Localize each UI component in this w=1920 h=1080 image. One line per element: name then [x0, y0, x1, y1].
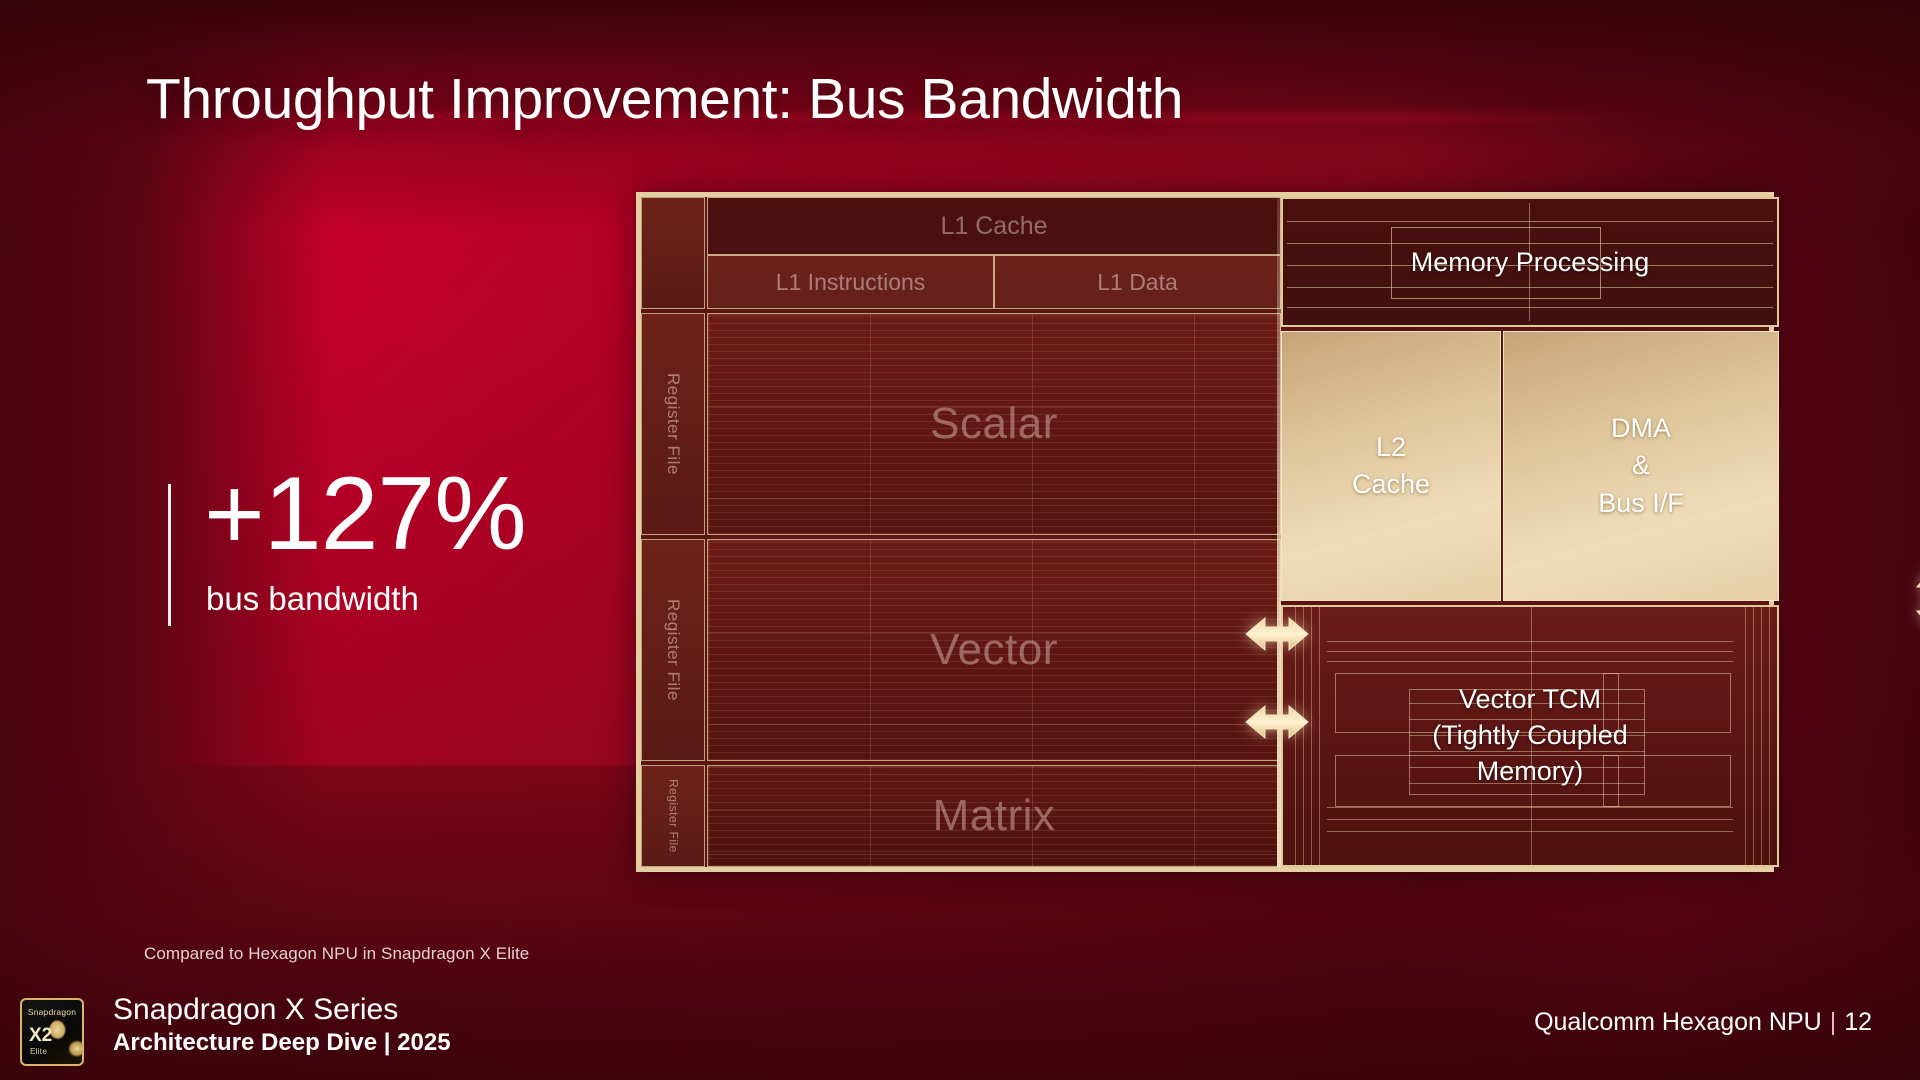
block-dma-bus-if-label: DMA & Bus I/F: [1598, 410, 1684, 522]
block-l1-instructions: L1 Instructions: [707, 255, 994, 309]
block-memory-processing: Memory Processing: [1281, 197, 1779, 327]
block-l2-cache: L2 Cache: [1281, 331, 1501, 601]
logo-top-text: Snapdragon: [22, 1007, 82, 1017]
footer-brand-line-2: Architecture Deep Dive | 2025: [113, 1029, 451, 1057]
register-file-matrix: Register File: [641, 765, 705, 867]
hexagon-npu-block-diagram: L1 Cache L1 Instructions L1 Data Registe…: [636, 192, 1774, 872]
block-vector-tcm: Vector TCM (Tightly Coupled Memory): [1281, 605, 1779, 867]
block-l1-instructions-label: L1 Instructions: [776, 269, 926, 296]
core-memory-divider: [1277, 197, 1281, 867]
tcm-line-1: Vector TCM: [1459, 682, 1601, 718]
block-vector-tcm-label: Vector TCM (Tightly Coupled Memory): [1283, 607, 1777, 865]
tcm-line-2: (Tightly Coupled: [1432, 718, 1628, 754]
snapdragon-x2-elite-logo: Snapdragon X2 Elite: [20, 998, 84, 1066]
block-vector-label: Vector: [930, 625, 1058, 675]
kpi-label: bus bandwidth: [206, 580, 419, 618]
footnote: Compared to Hexagon NPU in Snapdragon X …: [144, 944, 529, 964]
logo-chip-text: X2: [29, 1026, 52, 1045]
block-vector-unit: Vector: [707, 539, 1281, 761]
block-l1-data: L1 Data: [994, 255, 1281, 309]
tcm-line-3: Memory): [1477, 754, 1584, 790]
block-scalar-unit: Scalar: [707, 313, 1281, 535]
block-l1-cache: L1 Cache: [707, 197, 1281, 255]
kpi-value: +127%: [204, 462, 526, 566]
dma-line-1: DMA: [1598, 410, 1684, 447]
footer-brand-line-1: Snapdragon X Series: [113, 993, 398, 1027]
page-title: Throughput Improvement: Bus Bandwidth: [146, 66, 1183, 132]
diagram-core-column: L1 Cache L1 Instructions L1 Data Registe…: [641, 197, 1281, 867]
block-memory-processing-label: Memory Processing: [1283, 199, 1777, 325]
dma-line-2: &: [1598, 447, 1684, 484]
diagram-memory-column: Memory Processing L2 Cache DMA & Bus I/F: [1281, 197, 1779, 867]
register-file-l1-spacer: [641, 197, 705, 309]
l2-cache-line-2: Cache: [1352, 466, 1430, 503]
register-file-scalar-label: Register File: [663, 373, 683, 475]
footer-page-number: 12: [1844, 1008, 1872, 1036]
footer-right: Qualcomm Hexagon NPU|12: [1534, 1008, 1872, 1037]
l2-cache-line-1: L2: [1352, 429, 1430, 466]
register-file-scalar: Register File: [641, 313, 705, 535]
block-matrix-unit: Matrix: [707, 765, 1281, 867]
register-file-matrix-label: Register File: [667, 779, 680, 853]
block-l1-cache-label: L1 Cache: [940, 212, 1047, 241]
register-file-vector-label: Register File: [663, 599, 683, 701]
register-file-vector: Register File: [641, 539, 705, 761]
block-dma-bus-if: DMA & Bus I/F: [1503, 331, 1779, 601]
dma-line-3: Bus I/F: [1598, 485, 1684, 522]
logo-tier-text: Elite: [30, 1047, 47, 1056]
arrow-matrix-to-tcm-icon: [1245, 705, 1309, 739]
block-matrix-label: Matrix: [933, 791, 1056, 841]
block-l2-cache-label: L2 Cache: [1352, 429, 1430, 504]
arrow-dma-to-tcm-icon: [1916, 567, 1920, 631]
kpi-accent-rule: [168, 484, 171, 626]
block-scalar-label: Scalar: [930, 399, 1058, 449]
footer-separator: |: [1822, 1008, 1845, 1036]
footer-right-title: Qualcomm Hexagon NPU: [1534, 1008, 1822, 1036]
arrow-vector-to-tcm-icon: [1245, 617, 1309, 651]
block-l1-data-label: L1 Data: [1097, 269, 1178, 296]
